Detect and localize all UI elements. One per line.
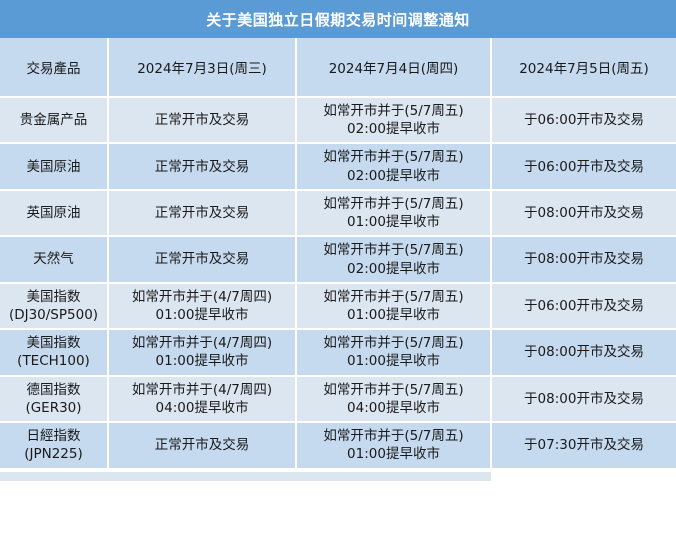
cell-jul3-line2: 01:00提早收市 <box>112 306 292 324</box>
cell-jul5-line1: 于07:30开市及交易 <box>495 436 673 454</box>
notice-title: 关于美国独立日假期交易时间调整通知 <box>0 0 676 38</box>
cell-jul4: 如常开市并于(5/7周五)01:00提早收市 <box>296 329 491 375</box>
cell-jul4: 如常开市并于(5/7周五)02:00提早收市 <box>296 143 491 189</box>
cell-product: 天然气 <box>0 236 108 282</box>
product-code: (GER30) <box>3 399 104 417</box>
cell-jul3: 正常开市及交易 <box>108 422 296 468</box>
table-row: 天然气正常开市及交易如常开市并于(5/7周五)02:00提早收市于08:00开市… <box>0 236 676 282</box>
cell-jul3: 正常开市及交易 <box>108 190 296 236</box>
cell-jul5: 于06:00开市及交易 <box>491 283 676 329</box>
cell-product: 日經指数(JPN225) <box>0 422 108 468</box>
cell-jul5-line1: 于06:00开市及交易 <box>495 297 673 315</box>
cell-jul3: 正常开市及交易 <box>108 236 296 282</box>
cell-jul5-line1: 于06:00开市及交易 <box>495 111 673 129</box>
cell-jul4-line1: 如常开市并于(5/7周五) <box>300 288 487 306</box>
cell-jul4: 如常开市并于(5/7周五)01:00提早收市 <box>296 422 491 468</box>
cell-jul4-line2: 04:00提早收市 <box>300 399 487 417</box>
cell-jul5: 于08:00开市及交易 <box>491 236 676 282</box>
product-name: 英国原油 <box>3 204 104 222</box>
cell-jul3-line1: 正常开市及交易 <box>112 250 292 268</box>
cell-jul4: 如常开市并于(5/7周五)02:00提早收市 <box>296 236 491 282</box>
cell-jul5: 于08:00开市及交易 <box>491 190 676 236</box>
cell-jul5: 于08:00开市及交易 <box>491 376 676 422</box>
product-name: 德国指数 <box>3 381 104 399</box>
cell-product: 美国指数(DJ30/SP500) <box>0 283 108 329</box>
product-name: 天然气 <box>3 250 104 268</box>
product-name: 贵金属产品 <box>3 111 104 129</box>
cell-jul3-line1: 正常开市及交易 <box>112 204 292 222</box>
cell-jul3: 如常开市并于(4/7周四)04:00提早收市 <box>108 376 296 422</box>
cell-jul4-line2: 01:00提早收市 <box>300 445 487 463</box>
cell-jul4-line2: 02:00提早收市 <box>300 260 487 278</box>
cell-jul5: 于06:00开市及交易 <box>491 97 676 143</box>
cell-jul4-line1: 如常开市并于(5/7周五) <box>300 334 487 352</box>
header-date-jul4: 2024年7月4日(周四) <box>296 38 491 97</box>
cell-product: 德国指数(GER30) <box>0 376 108 422</box>
banner-row: 关于美国独立日假期交易时间调整通知 <box>0 0 676 38</box>
cell-jul3-line1: 如常开市并于(4/7周四) <box>112 381 292 399</box>
cell-jul4-line2: 01:00提早收市 <box>300 306 487 324</box>
cell-jul3: 如常开市并于(4/7周四)01:00提早收市 <box>108 283 296 329</box>
table-row: 贵金属产品正常开市及交易如常开市并于(5/7周五)02:00提早收市于06:00… <box>0 97 676 143</box>
cell-jul4-line1: 如常开市并于(5/7周五) <box>300 195 487 213</box>
product-name: 日經指数 <box>3 427 104 445</box>
cell-product: 英国原油 <box>0 190 108 236</box>
next-row-sliver-right <box>491 470 676 479</box>
table-bottom-edge <box>0 470 676 481</box>
header-date-jul5: 2024年7月5日(周五) <box>491 38 676 97</box>
table-row: 英国原油正常开市及交易如常开市并于(5/7周五)01:00提早收市于08:00开… <box>0 190 676 236</box>
cell-jul3-line1: 正常开市及交易 <box>112 158 292 176</box>
table-header-row: 交易產品 2024年7月3日(周三) 2024年7月4日(周四) 2024年7月… <box>0 38 676 97</box>
table-row: 美国指数(TECH100)如常开市并于(4/7周四)01:00提早收市如常开市并… <box>0 329 676 375</box>
cell-jul5-line1: 于08:00开市及交易 <box>495 343 673 361</box>
cell-jul3-line1: 正常开市及交易 <box>112 111 292 129</box>
product-code: (TECH100) <box>3 352 104 370</box>
cell-jul4-line2: 01:00提早收市 <box>300 352 487 370</box>
table-body: 关于美国独立日假期交易时间调整通知 交易產品 2024年7月3日(周三) 202… <box>0 0 676 469</box>
trading-hours-notice-table: 关于美国独立日假期交易时间调整通知 交易產品 2024年7月3日(周三) 202… <box>0 0 676 470</box>
cell-jul5: 于06:00开市及交易 <box>491 143 676 189</box>
cell-jul3-line1: 如常开市并于(4/7周四) <box>112 288 292 306</box>
cell-jul4: 如常开市并于(5/7周五)02:00提早收市 <box>296 97 491 143</box>
table-row: 日經指数(JPN225)正常开市及交易如常开市并于(5/7周五)01:00提早收… <box>0 422 676 468</box>
cell-jul5-line1: 于08:00开市及交易 <box>495 250 673 268</box>
cell-jul4-line2: 02:00提早收市 <box>300 120 487 138</box>
cell-product: 贵金属产品 <box>0 97 108 143</box>
product-name: 美国原油 <box>3 158 104 176</box>
cell-jul5-line1: 于06:00开市及交易 <box>495 158 673 176</box>
cell-jul3: 正常开市及交易 <box>108 97 296 143</box>
cell-jul4-line1: 如常开市并于(5/7周五) <box>300 241 487 259</box>
cell-product: 美国原油 <box>0 143 108 189</box>
cell-jul4: 如常开市并于(5/7周五)01:00提早收市 <box>296 283 491 329</box>
cell-jul4-line2: 01:00提早收市 <box>300 213 487 231</box>
table-row: 德国指数(GER30)如常开市并于(4/7周四)04:00提早收市如常开市并于(… <box>0 376 676 422</box>
cell-jul3-line1: 如常开市并于(4/7周四) <box>112 334 292 352</box>
cell-jul4: 如常开市并于(5/7周五)04:00提早收市 <box>296 376 491 422</box>
product-name: 美国指数 <box>3 288 104 306</box>
cell-jul4-line1: 如常开市并于(5/7周五) <box>300 148 487 166</box>
cell-jul4-line1: 如常开市并于(5/7周五) <box>300 102 487 120</box>
product-code: (DJ30/SP500) <box>3 306 104 324</box>
cell-jul3-line2: 04:00提早收市 <box>112 399 292 417</box>
header-date-jul3: 2024年7月3日(周三) <box>108 38 296 97</box>
cell-product: 美国指数(TECH100) <box>0 329 108 375</box>
next-row-sliver <box>0 470 491 481</box>
cell-jul4-line2: 02:00提早收市 <box>300 167 487 185</box>
cell-jul3: 正常开市及交易 <box>108 143 296 189</box>
product-code: (JPN225) <box>3 445 104 463</box>
cell-jul4-line1: 如常开市并于(5/7周五) <box>300 381 487 399</box>
cell-jul5-line1: 于08:00开市及交易 <box>495 390 673 408</box>
cell-jul4-line1: 如常开市并于(5/7周五) <box>300 427 487 445</box>
product-name: 美国指数 <box>3 334 104 352</box>
cell-jul4: 如常开市并于(5/7周五)01:00提早收市 <box>296 190 491 236</box>
cell-jul3: 如常开市并于(4/7周四)01:00提早收市 <box>108 329 296 375</box>
cell-jul5: 于08:00开市及交易 <box>491 329 676 375</box>
table-row: 美国指数(DJ30/SP500)如常开市并于(4/7周四)01:00提早收市如常… <box>0 283 676 329</box>
cell-jul5-line1: 于08:00开市及交易 <box>495 204 673 222</box>
cell-jul3-line1: 正常开市及交易 <box>112 436 292 454</box>
cell-jul3-line2: 01:00提早收市 <box>112 352 292 370</box>
header-product: 交易產品 <box>0 38 108 97</box>
table-row: 美国原油正常开市及交易如常开市并于(5/7周五)02:00提早收市于06:00开… <box>0 143 676 189</box>
cell-jul5: 于07:30开市及交易 <box>491 422 676 468</box>
